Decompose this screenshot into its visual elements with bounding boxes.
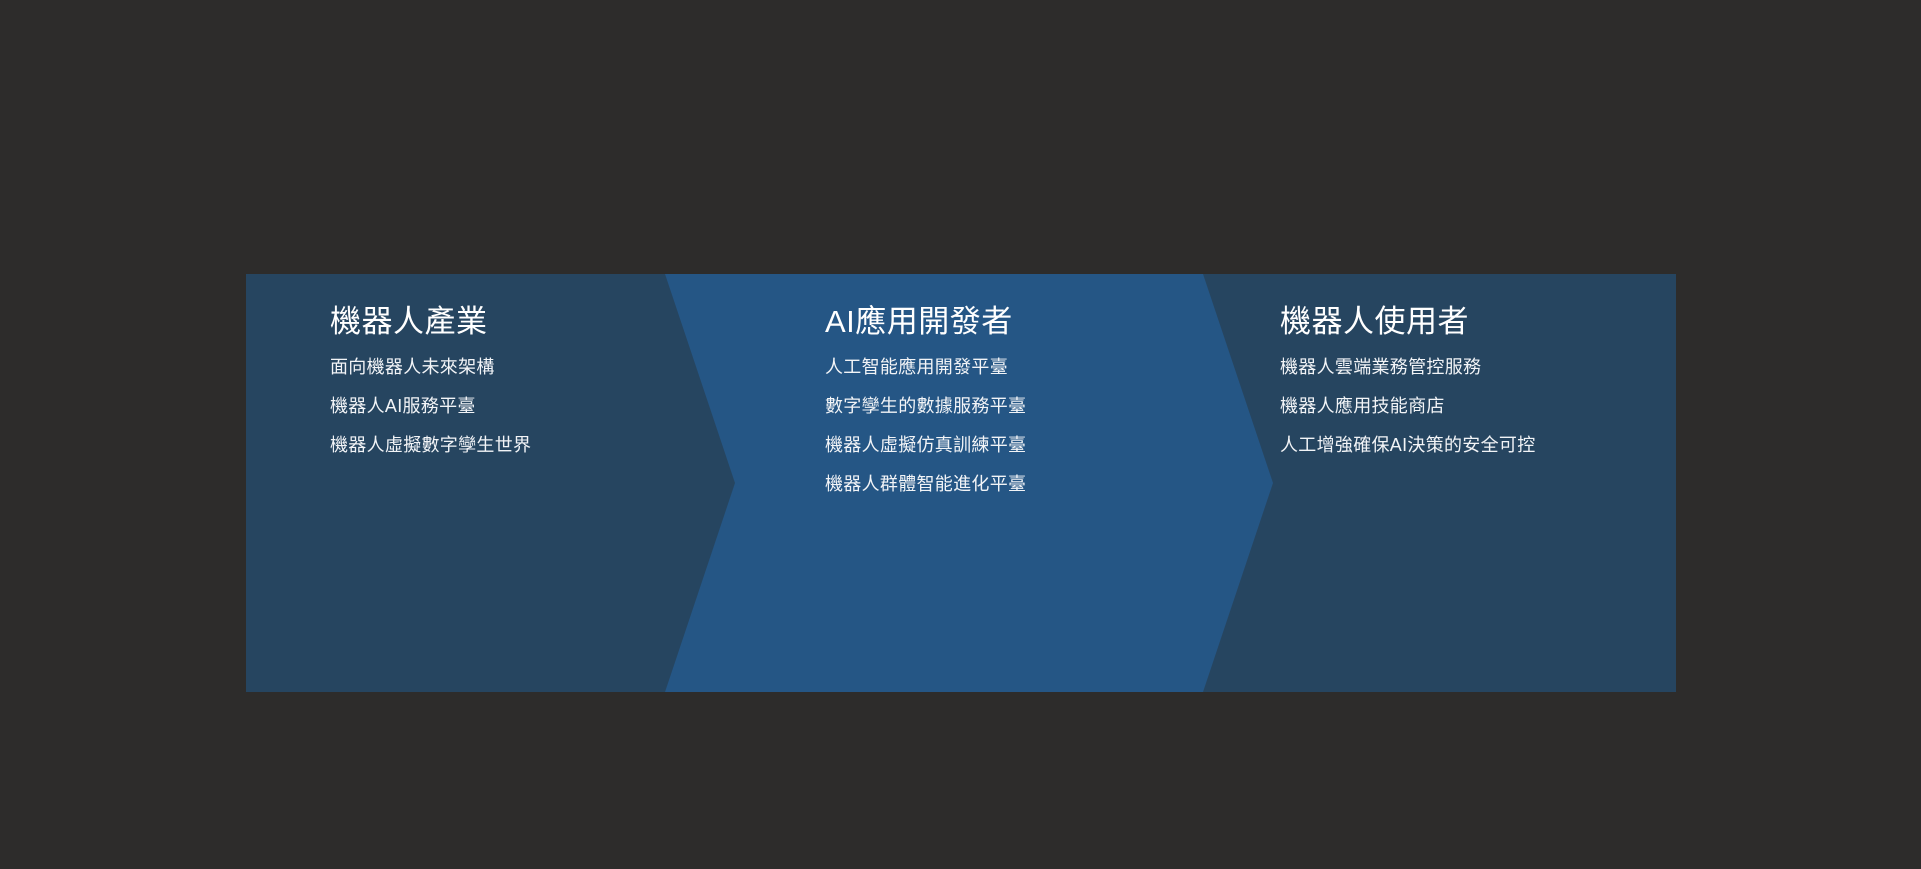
list-item: 人工增強確保AI決策的安全可控 xyxy=(1280,436,1536,454)
list-item: 機器人應用技能商店 xyxy=(1280,397,1536,415)
column-items-robot-user: 機器人雲端業務管控服務 機器人應用技能商店 人工增強確保AI決策的安全可控 xyxy=(1280,358,1536,454)
column-items-ai-app-developer: 人工智能應用開發平臺 數字孿生的數據服務平臺 機器人虛擬仿真訓練平臺 機器人群體… xyxy=(825,358,1026,493)
list-item: 人工智能應用開發平臺 xyxy=(825,358,1026,376)
chevron-column-robot-user: 機器人使用者 機器人雲端業務管控服務 機器人應用技能商店 人工增強確保AI決策的… xyxy=(1280,274,1680,692)
list-item: 機器人群體智能進化平臺 xyxy=(825,475,1026,493)
chevron-diagram: 機器人產業 面向機器人未來架構 機器人AI服務平臺 機器人虛擬數字孿生世界 AI… xyxy=(246,274,1676,692)
column-title-ai-app-developer: AI應用開發者 xyxy=(825,303,1013,340)
list-item: 機器人雲端業務管控服務 xyxy=(1280,358,1536,376)
list-item: 數字孿生的數據服務平臺 xyxy=(825,397,1026,415)
column-title-robot-user: 機器人使用者 xyxy=(1280,303,1469,340)
column-title-robot-industry: 機器人產業 xyxy=(330,303,488,340)
list-item: 機器人虛擬仿真訓練平臺 xyxy=(825,436,1026,454)
list-item: 機器人AI服務平臺 xyxy=(330,397,531,415)
chevron-column-robot-industry: 機器人產業 面向機器人未來架構 機器人AI服務平臺 機器人虛擬數字孿生世界 xyxy=(330,274,710,692)
list-item: 面向機器人未來架構 xyxy=(330,358,531,376)
chevron-column-ai-app-developer: AI應用開發者 人工智能應用開發平臺 數字孿生的數據服務平臺 機器人虛擬仿真訓練… xyxy=(825,274,1205,692)
column-items-robot-industry: 面向機器人未來架構 機器人AI服務平臺 機器人虛擬數字孿生世界 xyxy=(330,358,531,454)
list-item: 機器人虛擬數字孿生世界 xyxy=(330,436,531,454)
slide-canvas: 機器人產業 面向機器人未來架構 機器人AI服務平臺 機器人虛擬數字孿生世界 AI… xyxy=(0,0,1921,869)
